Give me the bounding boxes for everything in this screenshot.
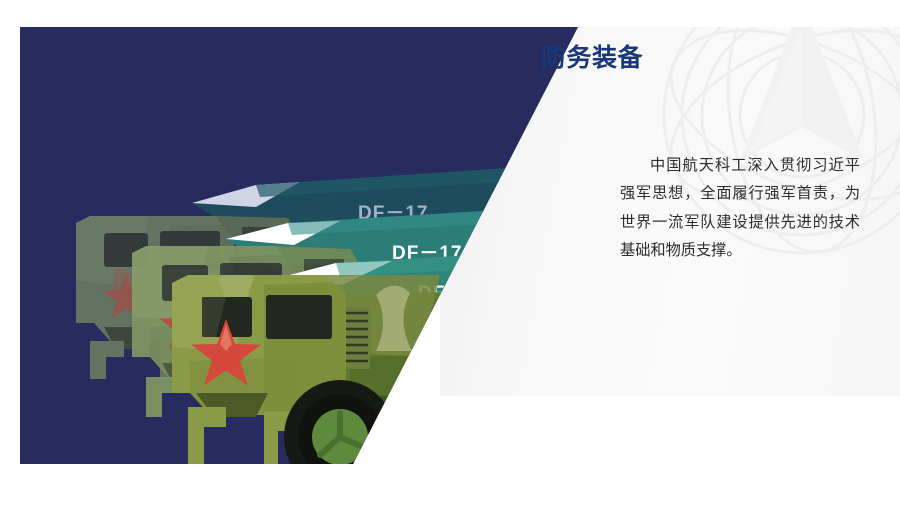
- slide-canvas: DF－17: [0, 0, 900, 510]
- body-paragraph: 中国航天科工深入贯彻习近平强军思想，全面履行强军首责，为世界一流军队建设提供先进…: [620, 152, 860, 266]
- page-title: 防务装备: [541, 43, 643, 73]
